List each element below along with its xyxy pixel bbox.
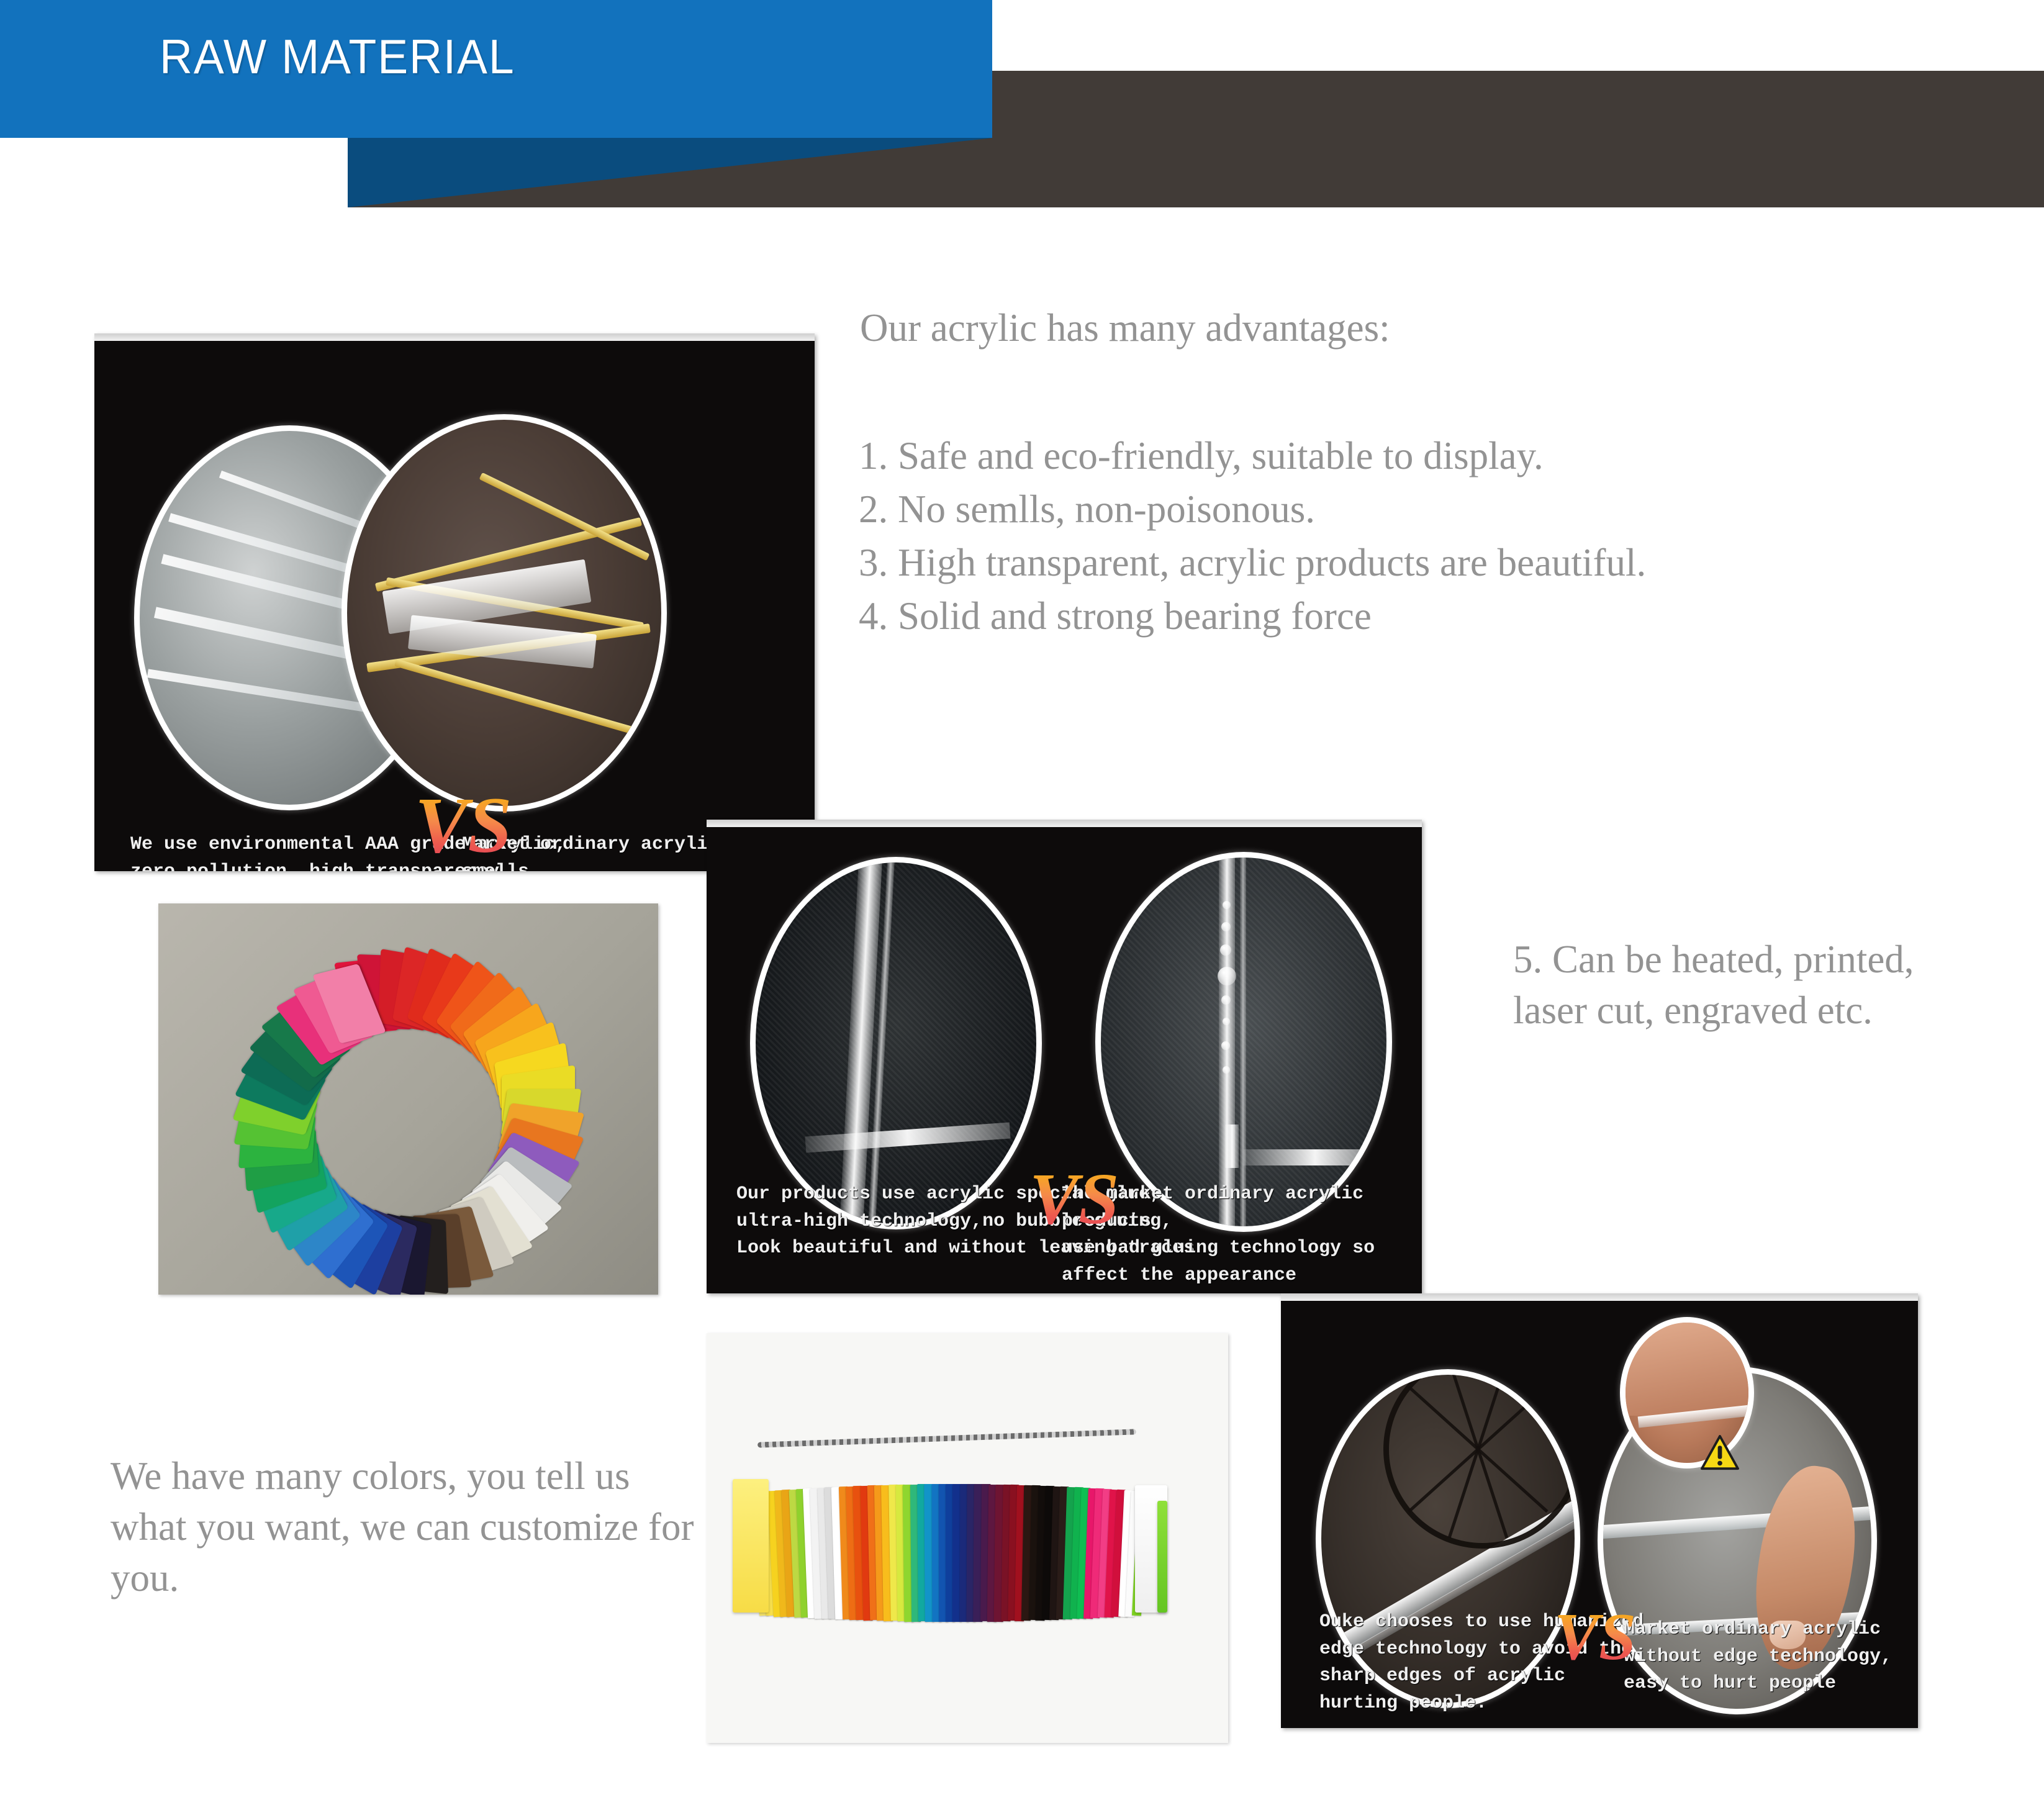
advantage-item-1: 1. Safe and eco-friendly, suitable to di… — [859, 431, 1646, 482]
comparison-panel-edge-safety: VS Ouke chooses to use humanized edge te… — [1281, 1293, 1918, 1728]
comparison-caption-right: Market ordinary acrylic without edge tec… — [1624, 1616, 1892, 1698]
photo-bubble-free-glue-joint — [750, 857, 1042, 1229]
color-swatch-face — [733, 1479, 769, 1613]
color-swatch-face — [1157, 1501, 1167, 1613]
vs-badge: VS — [1554, 1604, 1636, 1671]
advantage-item-2: 2. No semlls, non-poisonous. — [859, 484, 1646, 535]
advantage-item-4: 4. Solid and strong bearing force — [859, 591, 1646, 642]
advantage-item-3: 3. High transparent, acrylic products ar… — [859, 538, 1646, 589]
comparison-panel-material-quality: VS We use environmental AAA grade acryli… — [94, 333, 815, 871]
photo-yellowed-acrylic-sheets — [341, 414, 667, 812]
vs-badge: VS — [1029, 1162, 1119, 1236]
advantages-list: 1. Safe and eco-friendly, suitable to di… — [859, 431, 1646, 645]
advantage-item-5: 5. Can be heated, printed, laser cut, en… — [1513, 934, 1960, 1036]
comparison-panel-gluing-quality: VS Our products use acrylic special glue… — [707, 820, 1422, 1293]
bead-chain — [757, 1429, 1136, 1447]
page-header: RAW MATERIAL — [0, 0, 2044, 211]
photo-bubbly-glue-joint — [1095, 852, 1392, 1232]
warning-triangle-icon — [1701, 1435, 1739, 1471]
photo-color-wheel — [158, 903, 658, 1295]
vs-badge: VS — [415, 785, 512, 865]
advantages-heading: Our acrylic has many advantages: — [860, 303, 1390, 354]
photo-swatch-fan — [707, 1333, 1228, 1743]
custom-colors-note: We have many colors, you tell us what yo… — [111, 1451, 713, 1604]
header-gray-band — [992, 71, 2044, 207]
page-title: RAW MATERIAL — [160, 32, 515, 81]
